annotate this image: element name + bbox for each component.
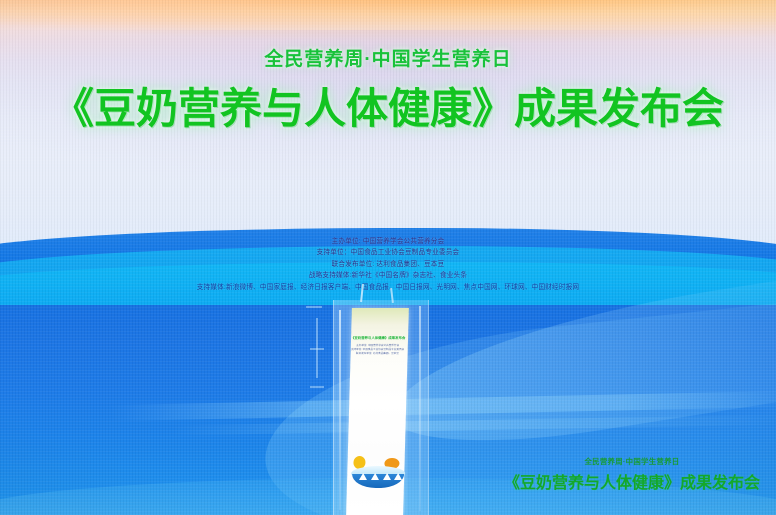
headline-kicker: 全民营养周·中国学生营养日 xyxy=(0,44,776,71)
bottom-logo-kicker: 全民营养周·中国学生营养日 xyxy=(504,456,760,467)
bowl-peak-2 xyxy=(371,473,379,480)
credit-line-strategic-media: 战略支持媒体:新华社《中国名牌》杂志社、食业头条 xyxy=(0,270,776,281)
bowl-peak-4 xyxy=(394,473,402,480)
bowl-peak-1 xyxy=(359,473,367,480)
headline-title: 《豆奶营养与人体健康》成果发布会 xyxy=(0,75,776,136)
podium-subtext: 主办单位: 中国营养学会公共营养分会 支持单位: 中国食品工业协会豆制品专业委员… xyxy=(350,344,405,356)
credit-line-supporter: 支持单位：中国食品工业协会豆制品专业委员会 xyxy=(0,247,776,258)
credit-line-copublisher: 联合发布单位: 达利食品集团、豆本豆 xyxy=(0,259,776,270)
credit-line-organizer: 主办单位: 中国营养学会公共营养分会 xyxy=(0,236,776,247)
speaker-podium: 《豆奶营养与人体健康》成果发布会 主办单位: 中国营养学会公共营养分会 支持单位… xyxy=(333,300,429,515)
stage-rail-low xyxy=(310,386,324,388)
stage-rail-mid xyxy=(310,348,324,350)
credit-line-supporting-media: 支持媒体:新浪微博、中国家庭报、经济日报客户端、中国食品报、中国日报网、光明网、… xyxy=(0,282,776,293)
podium-title: 《豆奶营养与人体健康》成果发布会 xyxy=(351,336,404,341)
conference-backdrop-photo: 全民营养周·中国学生营养日 《豆奶营养与人体健康》成果发布会 主办单位: 中国营… xyxy=(0,0,776,515)
bowl-peak-3 xyxy=(383,473,391,480)
credits-block: 主办单位: 中国营养学会公共营养分会 支持单位：中国食品工业协会豆制品专业委员会… xyxy=(0,236,776,293)
podium-subtext-line-3: 联合发布单位: 达利食品集团、豆本豆 xyxy=(350,352,405,356)
headline-block: 全民营养周·中国学生营养日 《豆奶营养与人体健康》成果发布会 xyxy=(0,44,776,136)
bottom-logo-title: 《豆奶营养与人体健康》成果发布会 xyxy=(504,469,760,493)
podium-edge-right xyxy=(419,306,421,511)
podium-bowl-graphic xyxy=(350,450,406,508)
podium-edge-left xyxy=(339,310,341,510)
bottom-right-event-logo: 全民营养周·中国学生营养日 《豆奶营养与人体健康》成果发布会 xyxy=(504,456,760,493)
stage-rail-top xyxy=(306,306,322,308)
